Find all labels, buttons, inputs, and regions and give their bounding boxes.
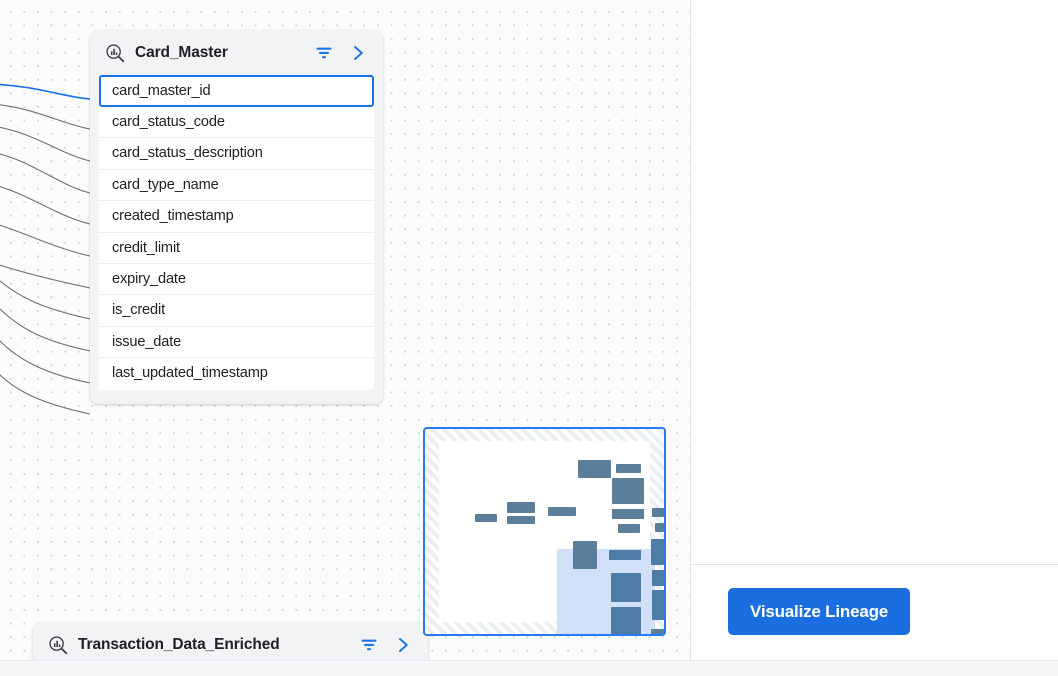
filter-icon[interactable]: [314, 43, 340, 63]
node-title: Card_Master: [135, 44, 305, 62]
field-row[interactable]: last_updated_timestamp: [99, 358, 374, 389]
minimap-node: [507, 516, 535, 524]
minimap-node: [652, 508, 666, 517]
minimap-node: [612, 509, 644, 519]
minimap-node: [651, 629, 666, 636]
node-header: Card_Master: [99, 30, 374, 75]
visualize-lineage-button[interactable]: Visualize Lineage: [728, 588, 910, 635]
minimap-node: [609, 550, 641, 560]
minimap-node: [611, 607, 641, 635]
minimap-node: [578, 460, 611, 478]
minimap-node: [507, 502, 535, 513]
field-list: card_master_id card_status_code card_sta…: [99, 75, 374, 390]
minimap-node: [548, 507, 576, 516]
panel-section-divider: [691, 564, 1058, 565]
field-row[interactable]: card_status_description: [99, 138, 374, 169]
explore-data-icon[interactable]: [47, 634, 69, 656]
field-row[interactable]: card_type_name: [99, 170, 374, 201]
field-row[interactable]: created_timestamp: [99, 201, 374, 232]
minimap-node: [652, 590, 666, 620]
minimap-node: [652, 570, 666, 586]
minimap-node: [573, 541, 597, 569]
lineage-edge-highlight: [0, 84, 90, 99]
chevron-right-icon[interactable]: [349, 44, 370, 62]
minimap-node: [651, 539, 666, 565]
field-row[interactable]: is_credit: [99, 295, 374, 326]
table-node-card-master[interactable]: Card_Master card_master_id card_statu: [90, 30, 383, 404]
minimap-node: [618, 524, 640, 533]
bottom-status-strip: [0, 660, 1058, 676]
minimap-node: [611, 573, 641, 602]
minimap-node: [616, 464, 641, 473]
field-row[interactable]: expiry_date: [99, 264, 374, 295]
lineage-minimap[interactable]: [423, 427, 666, 636]
field-row[interactable]: card_status_code: [99, 107, 374, 138]
lineage-explorer-screen: Card_Master card_master_id card_statu: [0, 0, 1058, 676]
field-row[interactable]: issue_date: [99, 327, 374, 358]
filter-icon[interactable]: [359, 635, 385, 655]
minimap-inner[interactable]: [439, 441, 650, 622]
field-row[interactable]: credit_limit: [99, 233, 374, 264]
minimap-node: [475, 514, 497, 522]
chevron-right-icon[interactable]: [394, 636, 415, 654]
lineage-canvas[interactable]: Card_Master card_master_id card_statu: [0, 0, 690, 676]
minimap-node: [655, 523, 666, 532]
field-row-selected[interactable]: card_master_id: [99, 75, 374, 107]
minimap-node: [612, 478, 644, 504]
explore-data-icon[interactable]: [104, 42, 126, 64]
node-title: Transaction_Data_Enriched: [78, 636, 350, 654]
details-panel: Visualize Lineage: [691, 0, 1058, 660]
